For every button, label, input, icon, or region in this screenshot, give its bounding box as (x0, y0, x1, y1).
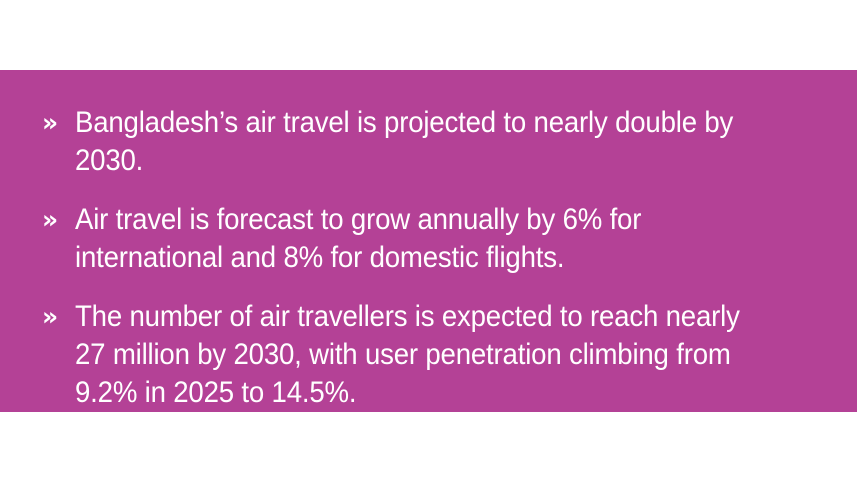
bullet-text: The number of air travellers is expected… (75, 298, 747, 412)
list-item: » The number of air travellers is expect… (42, 298, 805, 412)
bullet-text: Bangladesh’s air travel is projected to … (75, 104, 747, 180)
list-item: » Bangladesh’s air travel is projected t… (42, 104, 805, 180)
double-chevron-right-icon: » (42, 201, 75, 239)
bullet-text: Air travel is forecast to grow annually … (75, 201, 747, 277)
double-chevron-right-icon: » (42, 104, 75, 142)
content-panel: » Bangladesh’s air travel is projected t… (0, 70, 857, 412)
bullet-list: » Bangladesh’s air travel is projected t… (42, 104, 805, 412)
slide: » Bangladesh’s air travel is projected t… (0, 0, 857, 482)
list-item: » Air travel is forecast to grow annuall… (42, 201, 805, 277)
double-chevron-right-icon: » (42, 298, 75, 336)
